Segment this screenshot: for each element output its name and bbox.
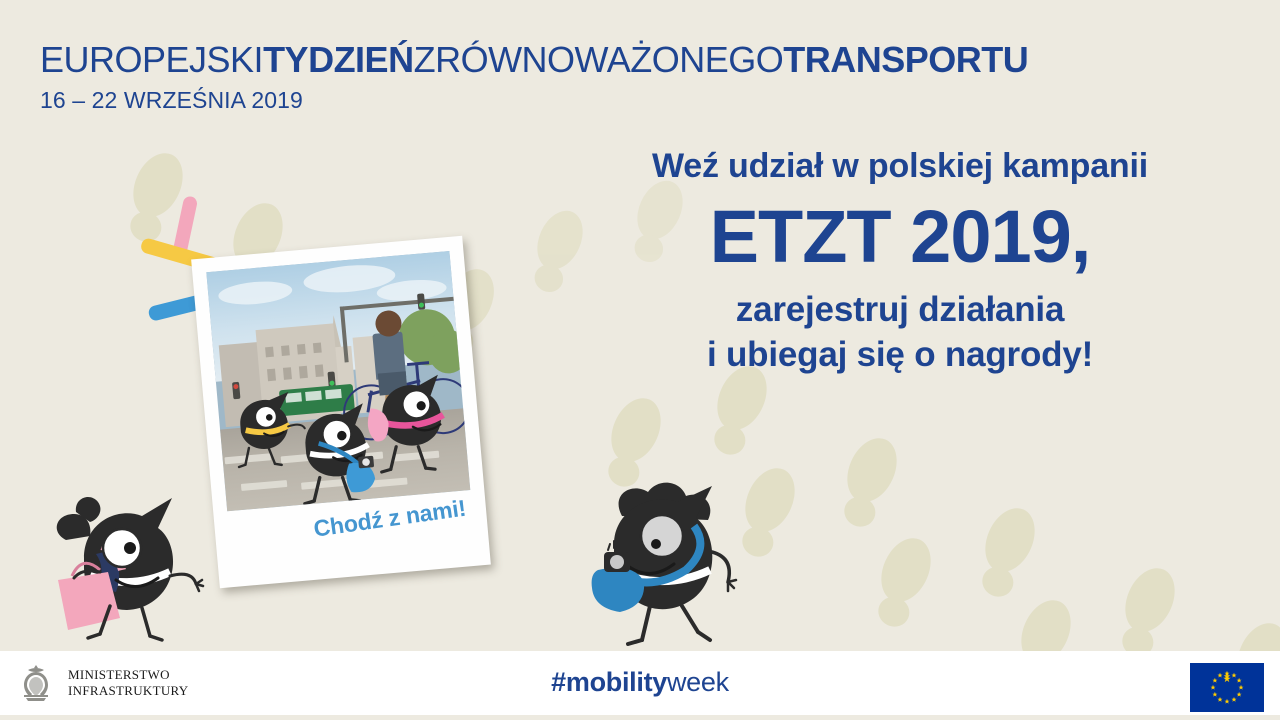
message-headline: ETZT 2019, [560,191,1240,284]
mascot-blue-bag [297,403,377,506]
message-line-1: Weź udział w polskiej kampanii [560,148,1240,185]
poster-canvas: EUROPEJSKITYDZIEŃZRÓWNOWAŻONEGOTRANSPORT… [0,0,1280,720]
header-block: EUROPEJSKITYDZIEŃZRÓWNOWAŻONEGOTRANSPORT… [40,42,1028,112]
footer-bar: MINISTERSTWO INFRASTRUKTURY #mobilitywee… [0,651,1280,715]
photo-mascot-group [206,251,470,511]
mascot-boy-camera [576,474,776,654]
message-line-3: zarejestruj działania [560,288,1240,333]
page-title: EUROPEJSKITYDZIEŃZRÓWNOWAŻONEGOTRANSPORT… [40,42,1028,78]
polaroid-photo-card: Chodź z nami! [191,236,491,588]
hashtag-regular-part: week [667,667,729,697]
campaign-message: Weź udział w polskiej kampanii ETZT 2019… [560,148,1240,377]
headline-text: ETZT 2019 [710,195,1071,278]
footer-bottom-strip [0,715,1280,720]
hashtag-bold-part: #mobility [551,667,667,697]
message-line-4: i ubiegaj się o nagrody! [560,333,1240,378]
date-range-label: 16 – 22 WRZEŚNIA 2019 [40,89,1028,112]
mascot-girl-shopping [46,484,226,649]
street-scene-photo [206,251,470,511]
headline-comma: , [1071,195,1091,278]
title-part-transportu: TRANSPORTU [783,39,1028,80]
mobilityweek-hashtag: #mobilityweek [0,667,1280,698]
mascot-pink-backpack [364,375,448,475]
mascot-yellow-scarf [233,391,308,469]
title-part-zrownowazonego: ZRÓWNOWAŻONEGO [414,39,784,80]
title-part-europejski: EUROPEJSKI [40,39,263,80]
title-part-tydzien: TYDZIEŃ [263,39,414,80]
eu-flag [1190,663,1264,712]
